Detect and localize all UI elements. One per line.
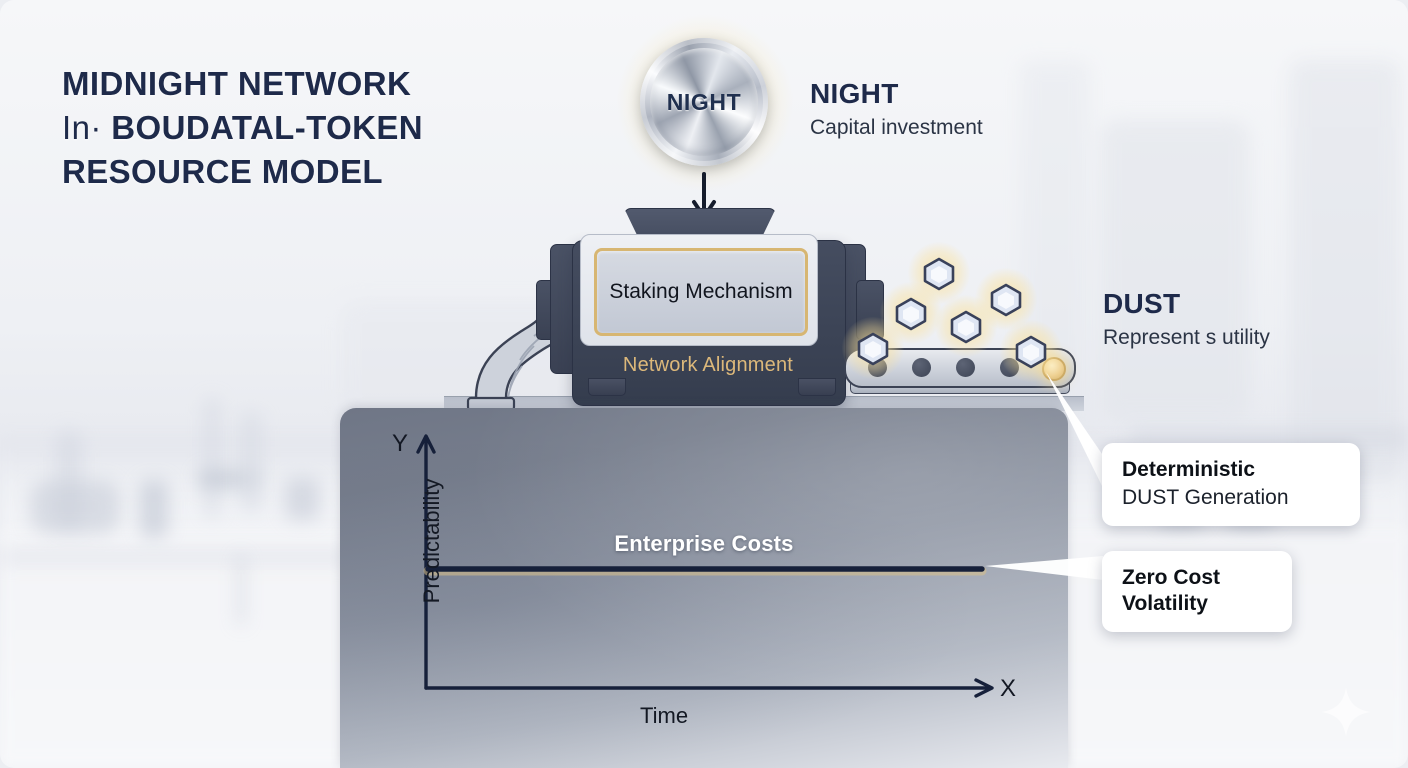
x-axis-label: Time — [640, 703, 688, 729]
dust-hexagon-icon — [923, 257, 955, 291]
title-line-3: RESOURCE MODEL — [62, 150, 582, 194]
coin-label: NIGHT — [667, 89, 742, 116]
dust-hexagon-icon — [857, 332, 889, 366]
callout-deterministic-title: Deterministic — [1122, 457, 1340, 483]
dust-hexagon-icon — [895, 297, 927, 331]
infographic-canvas: MIDNIGHT NETWORK In· BOUDATAL-TOKEN RESO… — [0, 0, 1408, 768]
machine-foot-left — [588, 378, 626, 396]
staking-mechanism-panel: Staking Mechanism — [594, 248, 808, 336]
night-subtitle: Capital investment — [810, 115, 983, 141]
chart-axes — [340, 408, 1068, 768]
callout-deterministic[interactable]: Deterministic DUST Generation — [1102, 443, 1360, 526]
dust-hexagon-icon — [990, 283, 1022, 317]
callout-zero-cost-subtitle: Volatility — [1122, 591, 1272, 617]
night-coin: NIGHT — [640, 38, 770, 168]
title-line-2: In· BOUDATAL-TOKEN — [62, 106, 582, 150]
conveyor-roller-2 — [912, 358, 931, 377]
x-axis-letter: X — [1000, 675, 1016, 703]
night-title: NIGHT — [810, 78, 983, 110]
title-line-1: MIDNIGHT NETWORK — [62, 62, 582, 106]
coin-disc: NIGHT — [640, 38, 768, 166]
dust-subtitle: Represent s utility — [1103, 325, 1270, 351]
conveyor-roller-3 — [956, 358, 975, 377]
dust-hexagon-icon — [1015, 335, 1047, 369]
callout-deterministic-subtitle: DUST Generation — [1122, 485, 1340, 511]
night-label-group: NIGHT Capital investment — [810, 78, 983, 141]
enterprise-costs-chart: Y X Predictability Time Enterprise Costs — [340, 408, 1068, 768]
callout-zero-cost[interactable]: Zero Cost Volatility — [1102, 551, 1292, 632]
callout-zero-cost-title: Zero Cost — [1122, 565, 1272, 591]
y-axis-label: Predictability — [419, 441, 445, 641]
y-axis-letter: Y — [392, 430, 408, 458]
title-line-2-bold: BOUDATAL-TOKEN — [111, 109, 423, 146]
dust-hexagon-icon — [950, 310, 982, 344]
sparkle-icon — [1320, 686, 1372, 738]
page-title: MIDNIGHT NETWORK In· BOUDATAL-TOKEN RESO… — [62, 62, 582, 194]
machine-foot-right — [798, 378, 836, 396]
dust-title: DUST — [1103, 288, 1270, 320]
series-label: Enterprise Costs — [554, 531, 854, 557]
network-alignment-label: Network Alignment — [572, 354, 844, 377]
title-line-2-lead: In· — [62, 109, 102, 146]
staking-mechanism-label: Staking Mechanism — [609, 279, 792, 305]
dust-label-group: DUST Represent s utility — [1103, 288, 1270, 351]
